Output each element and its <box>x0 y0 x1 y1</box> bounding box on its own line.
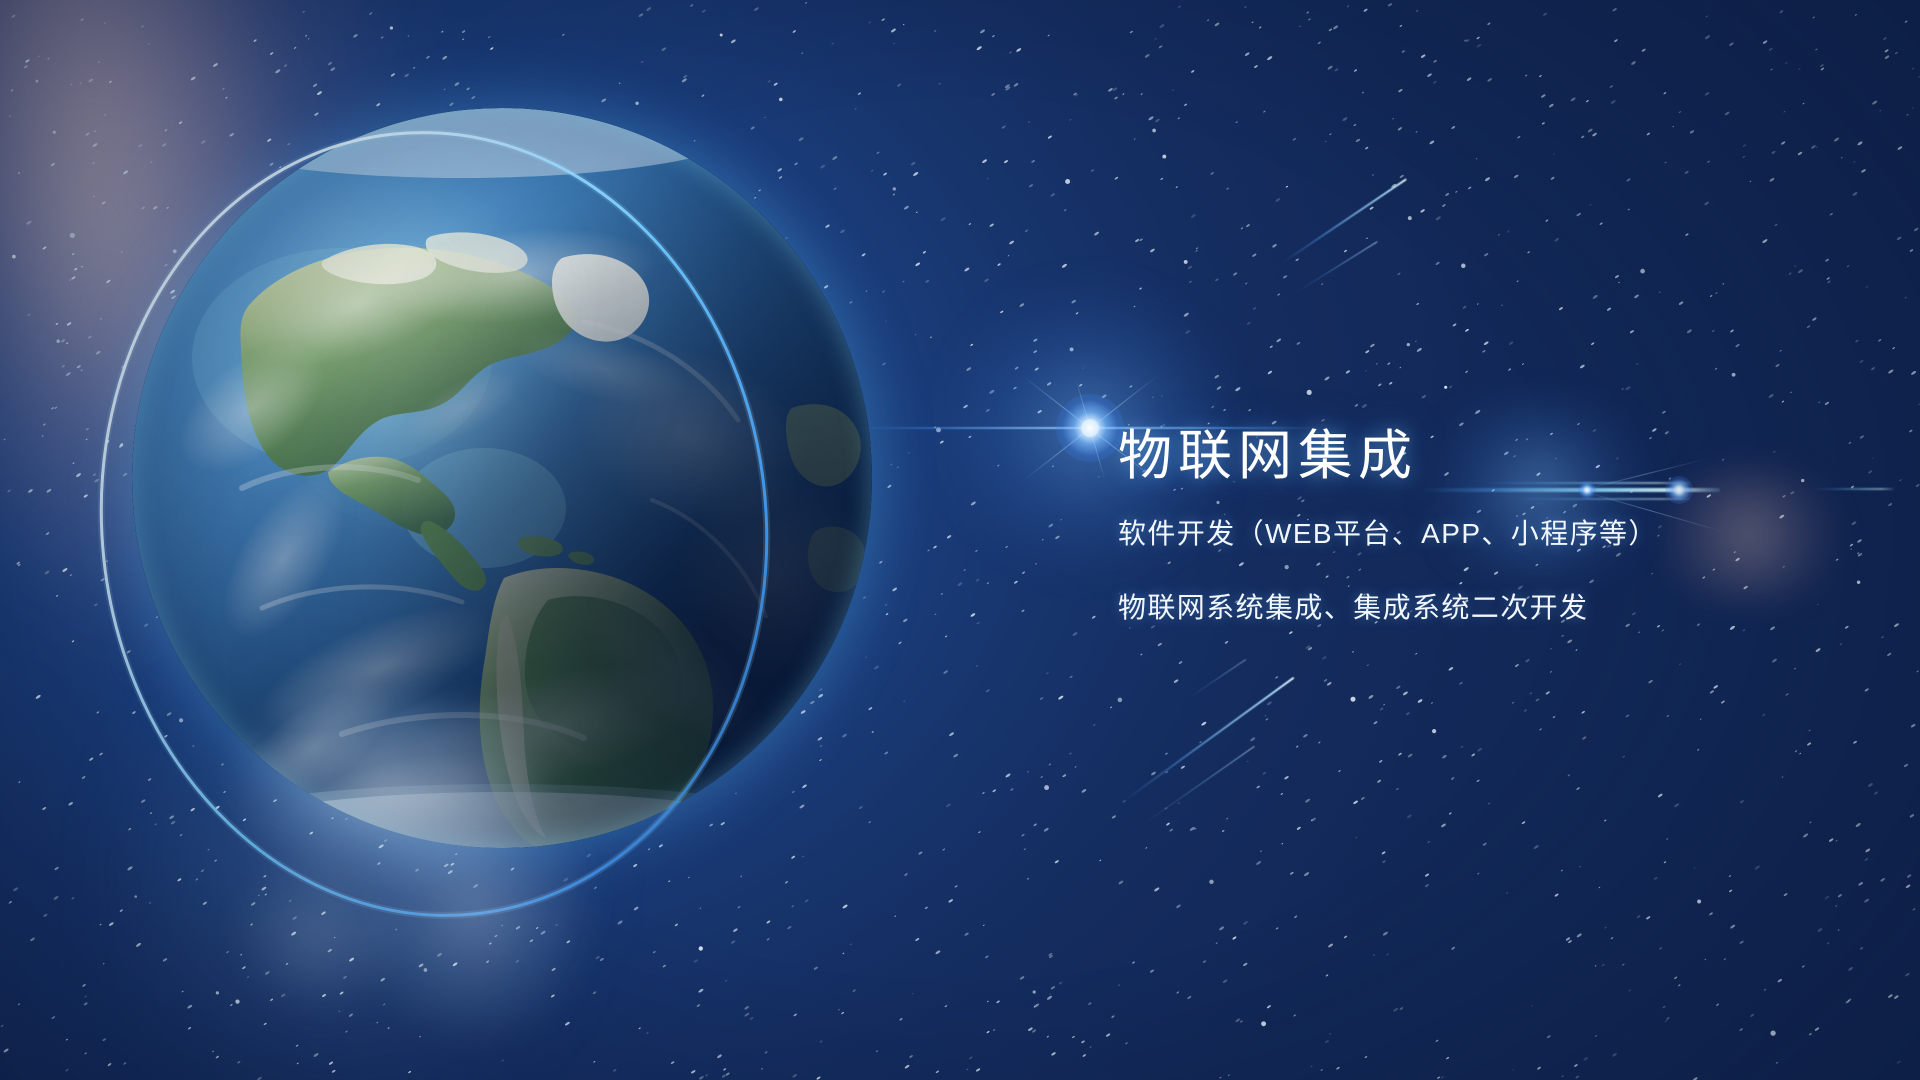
page-title: 物联网集成 <box>1118 425 1878 487</box>
subtitle-line-1: 软件开发（WEB平台、APP、小程序等） <box>1118 507 1878 561</box>
banner-text-block: 物联网集成 软件开发（WEB平台、APP、小程序等） 物联网系统集成、集成系统二… <box>1118 425 1878 635</box>
hero-banner: 物联网集成 软件开发（WEB平台、APP、小程序等） 物联网系统集成、集成系统二… <box>0 0 1920 1080</box>
subtitle-line-2: 物联网系统集成、集成系统二次开发 <box>1118 581 1878 635</box>
